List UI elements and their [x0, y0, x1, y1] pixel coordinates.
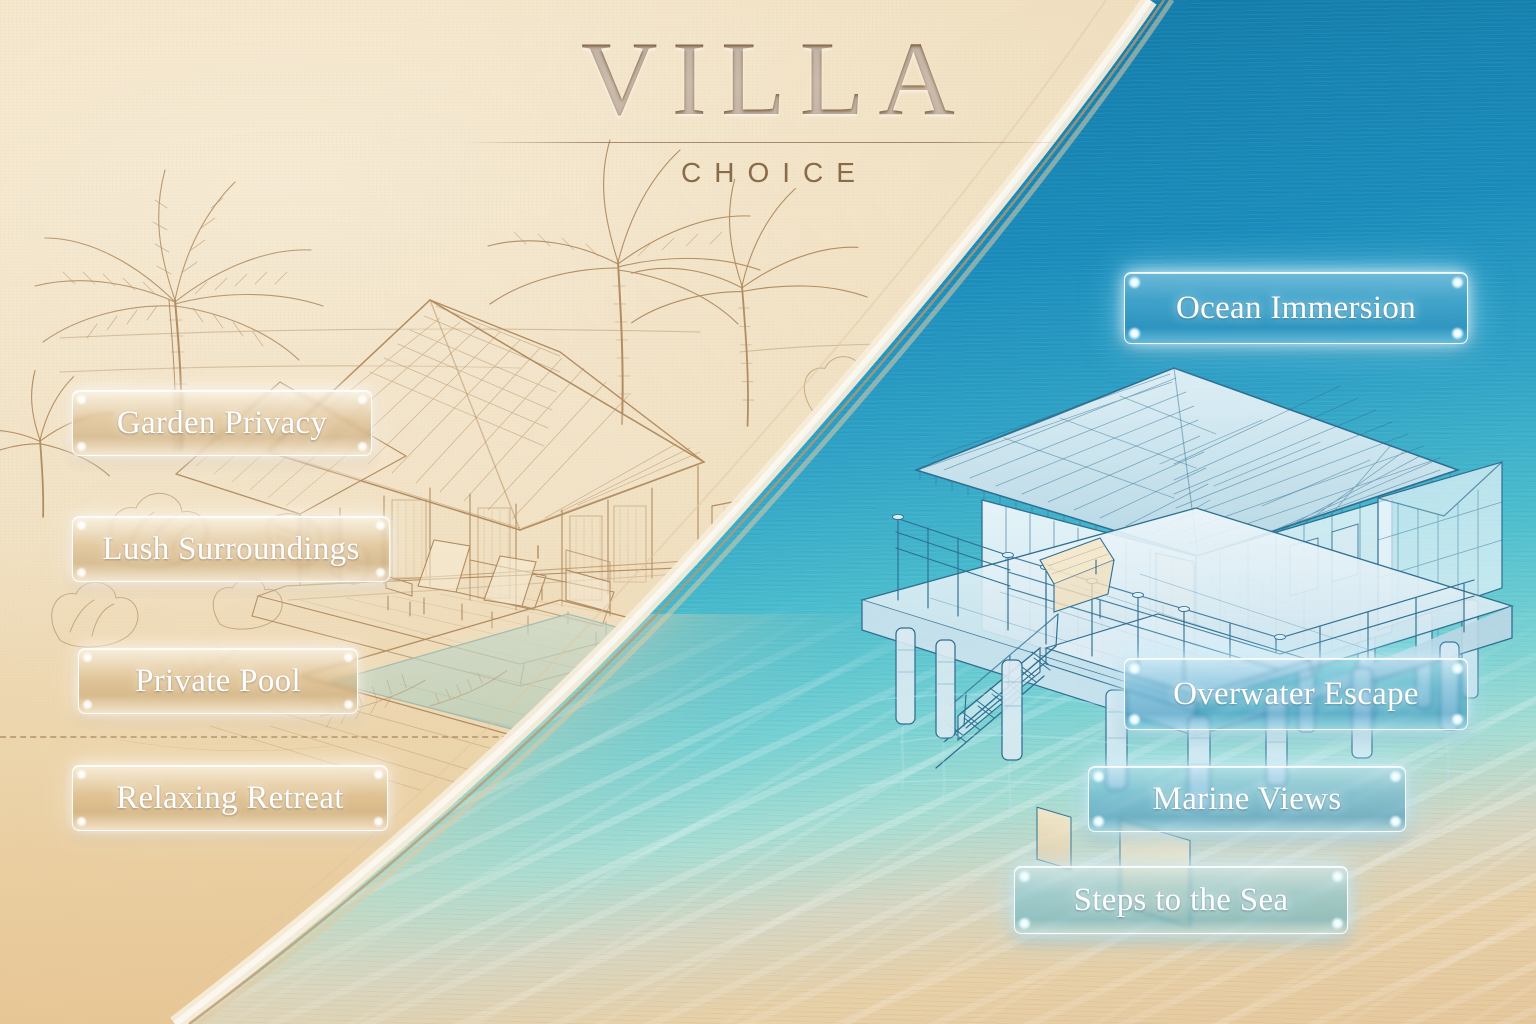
feature-label-text: Garden Privacy [95, 407, 349, 440]
corner-glow-icon [1092, 815, 1105, 828]
feature-label-lush-surroundings[interactable]: Lush Surroundings [72, 516, 390, 582]
feature-label-marine-views[interactable]: Marine Views [1088, 766, 1406, 832]
corner-glow-icon [76, 394, 87, 405]
feature-label-text: Lush Surroundings [95, 533, 367, 566]
corner-glow-icon [1331, 870, 1344, 883]
corner-glow-icon [375, 520, 386, 531]
corner-glow-icon [1451, 662, 1464, 675]
feature-label-text: Private Pool [101, 665, 335, 698]
corner-glow-icon [1128, 276, 1141, 289]
corner-glow-icon [1389, 815, 1402, 828]
corner-glow-icon [76, 567, 87, 578]
brand-wordmark: VILLA [0, 26, 1536, 132]
corner-glow-icon [1092, 770, 1105, 783]
feature-label-relaxing-retreat[interactable]: Relaxing Retreat [72, 765, 388, 831]
corner-glow-icon [343, 699, 354, 710]
corner-glow-icon [1451, 713, 1464, 726]
corner-glow-icon [1128, 662, 1141, 675]
feature-label-text: Overwater Escape [1147, 678, 1445, 711]
corner-glow-icon [76, 816, 87, 827]
feature-label-ocean-immersion[interactable]: Ocean Immersion [1124, 272, 1468, 344]
corner-glow-icon [76, 520, 87, 531]
feature-label-text: Steps to the Sea [1037, 884, 1325, 917]
corner-glow-icon [82, 652, 93, 663]
logo-divider-rule [463, 142, 1073, 143]
corner-glow-icon [76, 769, 87, 780]
corner-glow-icon [76, 441, 87, 452]
corner-glow-icon [375, 567, 386, 578]
corner-glow-icon [1128, 327, 1141, 340]
corner-glow-icon [373, 816, 384, 827]
corner-glow-icon [343, 652, 354, 663]
feature-label-text: Ocean Immersion [1147, 292, 1445, 325]
corner-glow-icon [1128, 713, 1141, 726]
feature-label-text: Relaxing Retreat [95, 782, 365, 815]
corner-glow-icon [1451, 327, 1464, 340]
corner-glow-icon [82, 699, 93, 710]
corner-glow-icon [1389, 770, 1402, 783]
corner-glow-icon [1018, 917, 1031, 930]
feature-label-overwater-escape[interactable]: Overwater Escape [1124, 658, 1468, 730]
corner-glow-icon [357, 441, 368, 452]
brand-logo: VILLA CHOICE [0, 26, 1536, 189]
corner-glow-icon [373, 769, 384, 780]
corner-glow-icon [1018, 870, 1031, 883]
corner-glow-icon [1331, 917, 1344, 930]
feature-label-private-pool[interactable]: Private Pool [78, 648, 358, 714]
feature-label-garden-privacy[interactable]: Garden Privacy [72, 390, 372, 456]
villa-choice-poster: VILLA CHOICE Garden PrivacyLush Surround… [0, 0, 1536, 1024]
brand-subtitle: CHOICE [0, 157, 1536, 189]
corner-glow-icon [1451, 276, 1464, 289]
corner-glow-icon [357, 394, 368, 405]
feature-label-text: Marine Views [1111, 783, 1383, 816]
feature-label-steps-to-the-sea[interactable]: Steps to the Sea [1014, 866, 1348, 934]
